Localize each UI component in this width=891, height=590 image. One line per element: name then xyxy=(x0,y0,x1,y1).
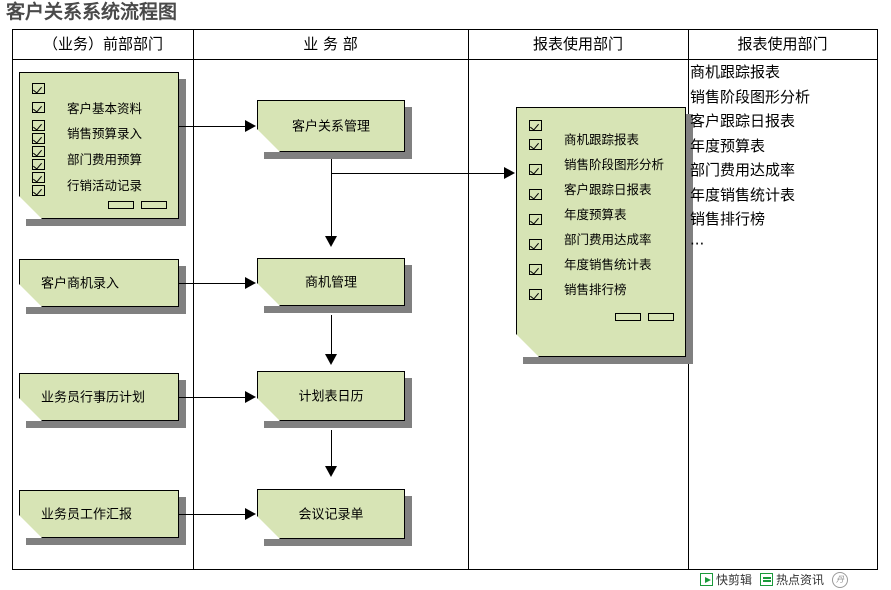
column-divider-1 xyxy=(193,30,194,569)
connector-line xyxy=(179,283,246,284)
node-label: 客户商机录入 xyxy=(19,272,179,291)
check-icon xyxy=(32,102,45,113)
connector-arrow-icon xyxy=(245,120,256,132)
corner-fold-icon xyxy=(19,196,42,219)
checklist-row: 销售排行榜 xyxy=(529,282,678,307)
column-header-report-users-1: 报表使用部门 xyxy=(468,30,688,59)
node-salesperson-calendar-plan[interactable]: 业务员行事历计划 xyxy=(19,373,179,421)
node-front-office-checklist[interactable]: 客户基本资料 销售预算录入 部门费用预算 xyxy=(19,72,179,219)
checklist-label: 部门费用预算 xyxy=(67,149,142,168)
checklist-label: 年度预算表 xyxy=(564,204,627,223)
taskbar-label: 快剪辑 xyxy=(716,571,752,588)
node-crm-management[interactable]: 客户关系管理 xyxy=(257,100,405,152)
check-icon xyxy=(32,172,45,183)
checklist-row: 部门费用预算 xyxy=(32,158,171,171)
connector-arrow-icon xyxy=(245,277,256,289)
list-item: 销售阶段图形分析 xyxy=(690,85,870,110)
doc-button[interactable] xyxy=(615,313,641,321)
report-checklist: 商机跟踪报表 销售阶段图形分析 客户跟踪日报表 年度预算表 部门费用达成率 年度… xyxy=(529,119,678,307)
check-icon xyxy=(32,133,45,144)
check-icon xyxy=(529,214,542,225)
check-icon xyxy=(529,164,542,175)
connector-arrow-icon xyxy=(245,391,256,403)
taskbar-item-quick-edit[interactable]: 快剪辑 xyxy=(700,571,752,588)
check-icon xyxy=(32,159,45,170)
node-label: 计划表日历 xyxy=(257,385,405,404)
node-opportunity-management[interactable]: 商机管理 xyxy=(257,258,405,306)
connector-line xyxy=(179,126,246,127)
doc-button[interactable] xyxy=(108,201,134,209)
node-label: 业务员行事历计划 xyxy=(19,386,179,405)
column-header-report-users-2: 报表使用部门 xyxy=(688,30,877,59)
node-label: 客户关系管理 xyxy=(257,115,405,134)
column-divider-2 xyxy=(468,30,469,569)
check-icon xyxy=(529,264,542,275)
check-icon xyxy=(529,289,542,300)
list-item-ellipsis: ··· xyxy=(690,232,870,257)
list-item: 年度预算表 xyxy=(690,134,870,159)
connector-arrow-icon xyxy=(325,236,337,247)
node-label: 商机管理 xyxy=(257,271,405,290)
checklist-label: 行销活动记录 xyxy=(67,175,142,194)
node-salesperson-work-report[interactable]: 业务员工作汇报 xyxy=(19,490,179,538)
connector-line xyxy=(331,173,505,174)
checklist-label: 部门费用达成率 xyxy=(564,229,652,248)
column-header-business-dept: 业 务 部 xyxy=(193,30,468,59)
bottom-taskbar: 快剪辑 热点资讯 丹 xyxy=(700,571,848,588)
node-label: 会议记录单 xyxy=(257,503,405,522)
connector-arrow-icon xyxy=(504,167,515,179)
check-icon xyxy=(529,120,542,131)
checklist-row: 行销活动记录 xyxy=(32,184,171,197)
taskbar-item-hot-news[interactable]: 热点资讯 xyxy=(760,571,824,588)
checklist-row: 销售预算录入 xyxy=(32,132,171,145)
list-item: 部门费用达成率 xyxy=(690,158,870,183)
checklist-label: 销售阶段图形分析 xyxy=(564,154,664,173)
doc-button[interactable] xyxy=(648,313,674,321)
connector-line xyxy=(331,159,332,237)
check-icon xyxy=(32,146,45,157)
node-report-list-document[interactable]: 商机跟踪报表 销售阶段图形分析 客户跟踪日报表 年度预算表 部门费用达成率 年度… xyxy=(516,107,686,357)
circle-a-icon[interactable]: 丹 xyxy=(832,572,848,588)
checklist-label: 销售排行榜 xyxy=(564,279,627,298)
check-icon xyxy=(32,120,45,131)
taskbar-label: 热点资讯 xyxy=(776,571,824,588)
node-schedule-calendar[interactable]: 计划表日历 xyxy=(257,371,405,421)
checklist-label: 销售预算录入 xyxy=(67,123,142,142)
node-customer-opportunity-entry[interactable]: 客户商机录入 xyxy=(19,259,179,307)
check-icon xyxy=(529,239,542,250)
checklist-label: 客户跟踪日报表 xyxy=(564,179,652,198)
checklist-label: 年度销售统计表 xyxy=(564,254,652,273)
check-icon xyxy=(529,189,542,200)
column-header-front-office: （业务）前部部门 xyxy=(13,30,193,59)
list-item: 商机跟踪报表 xyxy=(690,60,870,85)
checklist-row: 客户基本资料 xyxy=(32,95,171,119)
connector-line xyxy=(179,397,246,398)
check-icon xyxy=(32,83,45,94)
node-label: 业务员工作汇报 xyxy=(19,503,179,522)
doc-button[interactable] xyxy=(141,201,167,209)
connector-line xyxy=(331,430,332,467)
node-meeting-minutes[interactable]: 会议记录单 xyxy=(257,489,405,539)
play-icon xyxy=(700,573,713,586)
page-title: 客户关系系统流程图 xyxy=(6,1,177,25)
doc-button-group[interactable] xyxy=(108,201,167,209)
connector-arrow-icon xyxy=(325,354,337,365)
list-item: 客户跟踪日报表 xyxy=(690,109,870,134)
corner-fold-icon xyxy=(516,334,539,357)
report-usage-list: 商机跟踪报表 销售阶段图形分析 客户跟踪日报表 年度预算表 部门费用达成率 年度… xyxy=(690,60,870,256)
checklist-label: 客户基本资料 xyxy=(67,98,142,117)
list-item: 销售排行榜 xyxy=(690,207,870,232)
connector-line xyxy=(331,315,332,355)
checklist-row xyxy=(32,81,171,95)
check-icon xyxy=(32,185,45,196)
news-icon xyxy=(760,573,773,586)
connector-line xyxy=(179,514,246,515)
checklist: 客户基本资料 销售预算录入 部门费用预算 xyxy=(32,81,171,197)
connector-arrow-icon xyxy=(325,466,337,477)
list-item: 年度销售统计表 xyxy=(690,183,870,208)
checklist-label: 商机跟踪报表 xyxy=(564,129,639,148)
check-icon xyxy=(529,139,542,150)
connector-arrow-icon xyxy=(245,508,256,520)
doc-button-group[interactable] xyxy=(615,313,674,321)
